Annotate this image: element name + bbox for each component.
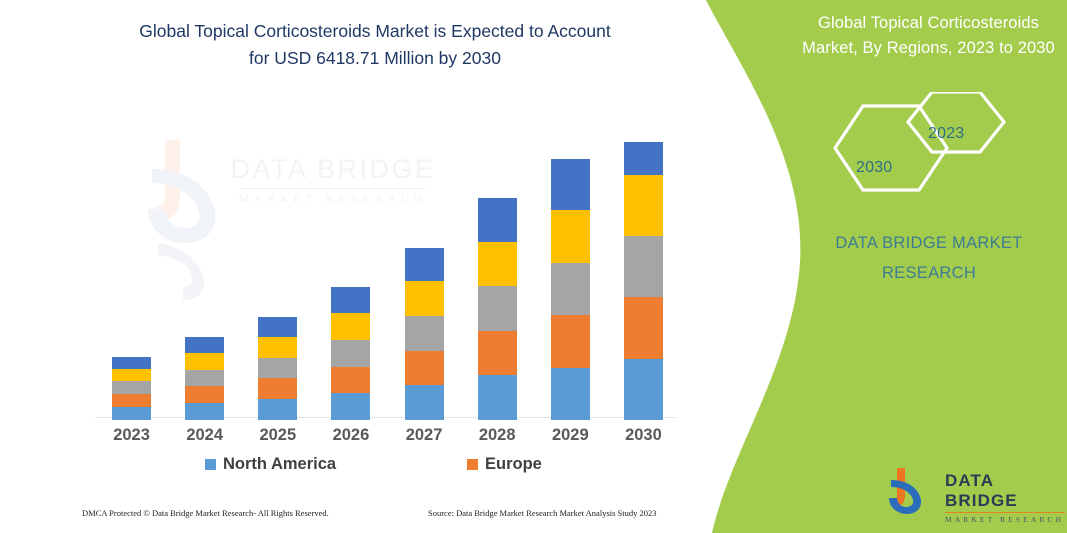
bar-2027[interactable]	[405, 248, 444, 420]
legend-item-europe[interactable]: Europe	[467, 455, 542, 474]
x-axis-label-2030: 2030	[608, 426, 678, 445]
bar-segment-2023-series-3	[112, 381, 151, 394]
logo-title: DATA BRIDGE	[945, 471, 1065, 511]
bar-segment-2026-north-america	[331, 393, 370, 420]
right-panel-title: Global Topical Corticosteroids Market, B…	[790, 11, 1067, 61]
x-axis-label-2025: 2025	[243, 426, 313, 445]
bar-2024[interactable]	[185, 337, 224, 420]
bar-segment-2024-series-5	[185, 337, 224, 353]
bar-segment-2023-series-5	[112, 357, 151, 369]
bar-segment-2030-series-5	[624, 142, 663, 175]
hex-badge-2030-label: 2030	[856, 159, 892, 177]
data-bridge-logo-text: DATA BRIDGE MARKET RESEARCH	[945, 471, 1065, 525]
bar-segment-2028-north-america	[478, 375, 517, 420]
bar-2026[interactable]	[331, 287, 370, 420]
bar-segment-2027-europe	[405, 351, 444, 386]
bar-segment-2026-europe	[331, 367, 370, 394]
bar-2030[interactable]	[624, 142, 663, 420]
bar-segment-2029-north-america	[551, 368, 590, 420]
bar-segment-2023-europe	[112, 394, 151, 407]
bar-segment-2026-series-4	[331, 313, 370, 340]
bar-segment-2023-series-4	[112, 369, 151, 382]
bar-2023[interactable]	[112, 357, 151, 420]
page-title: Global Topical Corticosteroids Market is…	[115, 18, 635, 72]
x-axis-label-2028: 2028	[462, 426, 532, 445]
logo-divider	[945, 512, 1065, 513]
bar-segment-2026-series-3	[331, 340, 370, 367]
bar-segment-2024-series-3	[185, 370, 224, 387]
legend-swatch-icon	[205, 459, 216, 470]
x-axis-label-2024: 2024	[170, 426, 240, 445]
bar-segment-2025-europe	[258, 378, 297, 399]
bar-segment-2030-series-3	[624, 236, 663, 297]
right-panel-brand-line2: RESEARCH	[798, 258, 1060, 288]
bar-segment-2030-series-4	[624, 175, 663, 236]
bar-segment-2028-series-5	[478, 198, 517, 242]
bar-segment-2029-series-5	[551, 159, 590, 210]
bar-segment-2024-europe	[185, 386, 224, 403]
x-axis-label-2026: 2026	[316, 426, 386, 445]
page-title-line2: for USD 6418.71 Million by 2030	[115, 45, 635, 72]
footer-copyright: DMCA Protected © Data Bridge Market Rese…	[82, 508, 329, 518]
bar-segment-2028-series-4	[478, 242, 517, 287]
right-panel-content: Global Topical Corticosteroids Market, B…	[790, 0, 1067, 533]
logo-subtitle: MARKET RESEARCH	[945, 515, 1065, 525]
bar-segment-2027-series-5	[405, 248, 444, 282]
legend-swatch-icon	[467, 459, 478, 470]
bar-segment-2025-series-4	[258, 337, 297, 358]
bar-2025[interactable]	[258, 317, 297, 420]
bar-segment-2027-series-4	[405, 281, 444, 316]
chart-legend: North AmericaEurope	[95, 455, 680, 481]
stacked-bar-chart	[95, 120, 680, 420]
bar-segment-2030-europe	[624, 297, 663, 358]
bar-segment-2024-north-america	[185, 403, 224, 420]
legend-item-north-america[interactable]: North America	[205, 455, 336, 474]
bar-segment-2025-series-5	[258, 317, 297, 337]
bar-segment-2029-series-4	[551, 210, 590, 262]
hex-badge-2023-shape	[908, 92, 1004, 152]
x-axis-label-2029: 2029	[535, 426, 605, 445]
bar-segment-2026-series-5	[331, 287, 370, 313]
bar-segment-2029-series-3	[551, 263, 590, 315]
legend-label: Europe	[485, 455, 542, 474]
x-axis-label-2023: 2023	[97, 426, 167, 445]
bar-2028[interactable]	[478, 198, 517, 420]
page-title-line1: Global Topical Corticosteroids Market is…	[115, 18, 635, 45]
hex-badge-group	[790, 92, 1067, 204]
bar-segment-2028-series-3	[478, 286, 517, 331]
bar-2029[interactable]	[551, 159, 590, 420]
bar-segment-2025-north-america	[258, 399, 297, 420]
bar-segment-2029-europe	[551, 315, 590, 367]
bar-segment-2030-north-america	[624, 359, 663, 420]
hex-badge-2023-label: 2023	[928, 125, 964, 143]
data-bridge-logo-mark	[885, 466, 943, 518]
bar-segment-2027-north-america	[405, 385, 444, 420]
infographic-root: Global Topical Corticosteroids Market, B…	[0, 0, 1067, 533]
bar-segment-2024-series-4	[185, 353, 224, 370]
data-bridge-logo: DATA BRIDGE MARKET RESEARCH	[885, 466, 1065, 522]
legend-label: North America	[223, 455, 336, 474]
bar-segment-2025-series-3	[258, 358, 297, 379]
right-panel-title-line2: Market, By Regions, 2023 to 2030	[790, 36, 1067, 61]
right-panel-brand-line1: DATA BRIDGE MARKET	[798, 228, 1060, 258]
right-panel-brand: DATA BRIDGE MARKET RESEARCH	[798, 228, 1060, 288]
bar-segment-2027-series-3	[405, 316, 444, 351]
right-panel-title-line1: Global Topical Corticosteroids	[790, 11, 1067, 36]
x-axis-label-2027: 2027	[389, 426, 459, 445]
footer: DMCA Protected © Data Bridge Market Rese…	[0, 508, 700, 526]
x-axis-labels: 20232024202520262027202820292030	[95, 426, 680, 452]
bar-segment-2023-north-america	[112, 407, 151, 420]
footer-source: Source: Data Bridge Market Research Mark…	[428, 508, 657, 518]
bar-segment-2028-europe	[478, 331, 517, 376]
